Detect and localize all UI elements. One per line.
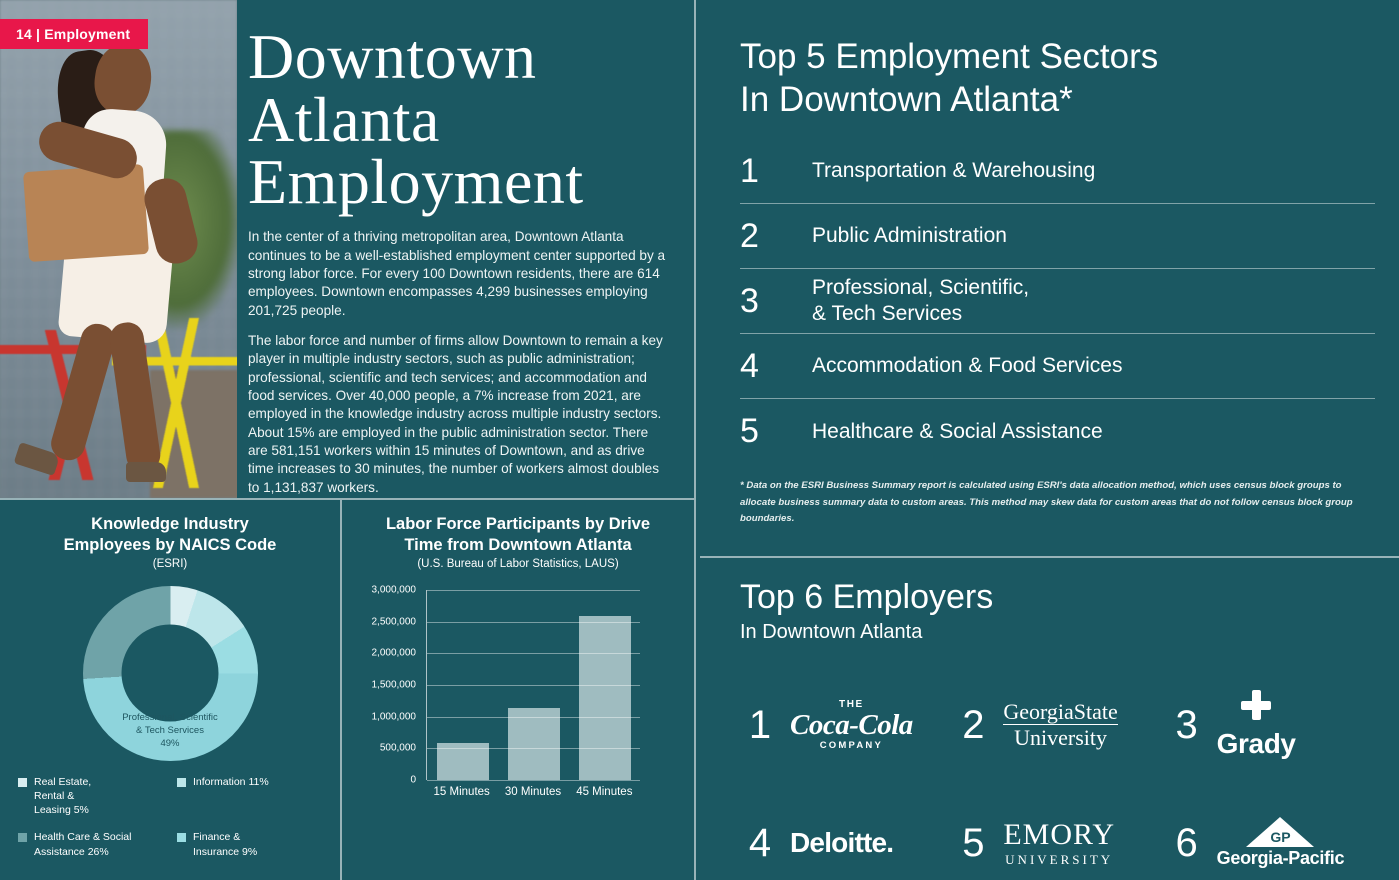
top-sectors-heading-line-1: Top 5 Employment Sectors (740, 36, 1375, 79)
x-axis-label: 15 Minutes (434, 786, 490, 798)
y-axis-tick: 2,500,000 (372, 616, 417, 627)
top-sectors-section: Top 5 Employment Sectors In Downtown Atl… (740, 36, 1375, 527)
page-title-line-1: Downtown (248, 26, 668, 89)
bar-chart-y-axis: 3,000,0002,500,0002,000,0001,500,0001,00… (350, 590, 422, 780)
employer-cell-4: 4 Deloitte. (740, 784, 953, 880)
sector-row-4: 4 Accommodation & Food Services (740, 334, 1375, 399)
grid-line (427, 653, 640, 654)
hero-photo (0, 0, 237, 498)
top-sectors-heading-line-2: In Downtown Atlanta* (740, 79, 1375, 122)
y-axis-tick: 3,000,000 (372, 584, 417, 595)
donut-legend: Real Estate, Rental & Leasing 5% Informa… (0, 775, 340, 872)
employer-rank-3: 3 (1167, 703, 1207, 748)
page-title: Downtown Atlanta Employment (248, 26, 668, 214)
sector-row-1: 1 Transportation & Warehousing (740, 139, 1375, 204)
grid-line (427, 590, 640, 591)
gsu-line-2: University (1014, 727, 1107, 749)
grady-logo: Grady (1217, 690, 1296, 760)
legend-item-real-estate: Real Estate, Rental & Leasing 5% (18, 775, 163, 818)
knowledge-industry-chart-panel: Knowledge Industry Employees by NAICS Co… (0, 500, 340, 880)
sector-label-1: Transportation & Warehousing (812, 158, 1095, 184)
sector-row-5: 5 Healthcare & Social Assistance (740, 399, 1375, 464)
grid-line (427, 685, 640, 686)
y-axis-tick: 500,000 (380, 743, 416, 754)
legend-label-real-estate: Real Estate, Rental & Leasing 5% (34, 775, 91, 818)
sector-row-2: 2 Public Administration (740, 204, 1375, 269)
sector-label-2: Public Administration (812, 223, 1007, 249)
georgia-pacific-wordmark: Georgia-Pacific (1217, 848, 1345, 869)
sector-rank-5: 5 (740, 412, 812, 451)
legend-label-health-care: Health Care & Social Assistance 26% (34, 830, 131, 858)
page-title-line-2: Atlanta (248, 89, 668, 152)
y-axis-tick: 2,000,000 (372, 648, 417, 659)
legend-item-health-care: Health Care & Social Assistance 26% (18, 830, 163, 858)
legend-item-information: Information 11% (177, 775, 322, 818)
page-title-line-3: Employment (248, 151, 668, 214)
donut-chart-title: Knowledge Industry Employees by NAICS Co… (0, 500, 340, 557)
photo-person-shoe-front (126, 462, 166, 482)
legend-swatch-health-care (18, 833, 27, 842)
triangle-icon: GP (1246, 817, 1314, 847)
bar-chart-x-axis: 15 Minutes30 Minutes45 Minutes (426, 786, 640, 798)
legend-item-finance: Finance & Insurance 9% (177, 830, 322, 858)
legend-label-finance: Finance & Insurance 9% (193, 830, 257, 858)
sector-rank-4: 4 (740, 347, 812, 386)
employer-cell-1: 1 THE Coca-Cola COMPANY (740, 666, 953, 784)
top-employers-section: Top 6 Employers In Downtown Atlanta 1 TH… (740, 578, 1380, 880)
bar-chart-subtitle: (U.S. Bureau of Labor Statistics, LAUS) (342, 558, 694, 570)
medical-cross-icon (1241, 690, 1271, 720)
drive-time-chart-panel: Labor Force Participants by Drive Time f… (342, 500, 694, 880)
x-axis-label: 45 Minutes (576, 786, 632, 798)
legend-swatch-real-estate (18, 778, 27, 787)
horizontal-divider-right (700, 556, 1399, 558)
legend-swatch-finance (177, 833, 186, 842)
hero-text-block: Downtown Atlanta Employment In the cente… (248, 26, 668, 497)
employer-cell-2: 2 GeorgiaState University (953, 666, 1166, 784)
bar-chart: 3,000,0002,500,0002,000,0001,500,0001,00… (350, 590, 640, 815)
emory-line-2: UNIVERSITY (1005, 853, 1113, 866)
coca-cola-company-text: COMPANY (820, 740, 883, 751)
top-employers-subheading: In Downtown Atlanta (740, 621, 1380, 644)
gp-monogram: GP (1267, 829, 1293, 845)
top-employers-heading: Top 6 Employers (740, 578, 1380, 617)
bar-chart-plot-area (426, 590, 640, 780)
grid-line (427, 622, 640, 623)
employer-rank-1: 1 (740, 703, 780, 748)
employer-rank-6: 6 (1167, 821, 1207, 866)
bar (579, 616, 631, 780)
sectors-footnote: * Data on the ESRI Business Summary repo… (740, 478, 1375, 527)
x-axis-label: 30 Minutes (505, 786, 561, 798)
legend-label-information: Information 11% (193, 775, 269, 818)
donut-center-label: Professional, Scientific & Tech Services… (95, 712, 245, 750)
donut-chart-subtitle: (ESRI) (0, 558, 340, 570)
employer-cell-3: 3 Grady (1167, 666, 1380, 784)
donut-hole (122, 625, 219, 722)
grid-line (427, 717, 640, 718)
vertical-divider-main (694, 0, 696, 880)
sector-rank-1: 1 (740, 152, 812, 191)
sector-rank-3: 3 (740, 282, 812, 321)
bar (508, 708, 560, 780)
page-number-badge: 14 | Employment (0, 19, 148, 49)
employers-grid: 1 THE Coca-Cola COMPANY 2 GeorgiaState U… (740, 666, 1380, 880)
coca-cola-logo: THE Coca-Cola COMPANY (790, 699, 913, 751)
sector-rank-2: 2 (740, 217, 812, 256)
deloitte-logo: Deloitte. (790, 827, 893, 859)
emory-university-logo: EMORY UNIVERSITY (1003, 820, 1115, 866)
y-axis-tick: 1,000,000 (372, 711, 417, 722)
sector-label-4: Accommodation & Food Services (812, 353, 1122, 379)
georgia-state-university-logo: GeorgiaState University (1003, 701, 1117, 749)
employer-rank-4: 4 (740, 821, 780, 866)
y-axis-tick: 1,500,000 (372, 679, 417, 690)
emory-line-1: EMORY (1003, 820, 1115, 850)
georgia-pacific-logo: GP Georgia-Pacific (1217, 817, 1345, 869)
grid-line (427, 780, 640, 781)
photo-handbag (23, 164, 149, 262)
coca-cola-wordmark: Coca-Cola (790, 710, 913, 740)
y-axis-tick: 0 (410, 774, 416, 785)
intro-paragraph-2: The labor force and number of firms allo… (248, 332, 668, 497)
infographic-page: 14 | Employment Downtown Atlanta Employm… (0, 0, 1399, 880)
donut-chart: Professional, Scientific & Tech Services… (83, 586, 258, 761)
gsu-line-1: GeorgiaState (1003, 701, 1117, 725)
grid-line (427, 748, 640, 749)
intro-paragraph-1: In the center of a thriving metropolitan… (248, 228, 668, 320)
legend-swatch-information (177, 778, 186, 787)
employer-cell-6: 6 GP Georgia-Pacific (1167, 784, 1380, 880)
top-sectors-list: 1 Transportation & Warehousing 2 Public … (740, 139, 1375, 464)
employer-rank-2: 2 (953, 703, 993, 748)
top-sectors-heading: Top 5 Employment Sectors In Downtown Atl… (740, 36, 1375, 121)
employer-cell-5: 5 EMORY UNIVERSITY (953, 784, 1166, 880)
sector-label-3: Professional, Scientific, & Tech Service… (812, 275, 1029, 328)
sector-label-5: Healthcare & Social Assistance (812, 419, 1103, 445)
bar-chart-title: Labor Force Participants by Drive Time f… (342, 500, 694, 557)
grady-wordmark: Grady (1217, 728, 1296, 760)
employer-rank-5: 5 (953, 821, 993, 866)
sector-row-3: 3 Professional, Scientific, & Tech Servi… (740, 269, 1375, 334)
